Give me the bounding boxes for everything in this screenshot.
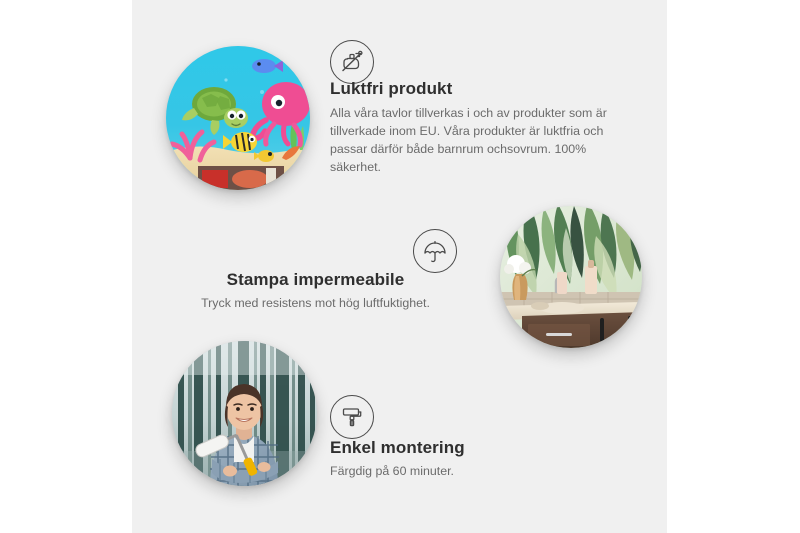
feature-text-easy-assembly: Enkel montering Färgdig på 60 minuter.: [330, 437, 620, 481]
feature-body-easy-assembly: Färgdig på 60 minuter.: [330, 463, 620, 481]
bathroom-vanity-photo: [500, 206, 642, 348]
feature-title-easy-assembly: Enkel montering: [330, 437, 620, 458]
product-feature-infographic: Luktfri produkt Alla våra tavlor tillver…: [0, 0, 800, 533]
feature-body-odour-free: Alla våra tavlor tillverkas i och av pro…: [330, 105, 626, 177]
feature-title-odour-free: Luktfri produkt: [330, 78, 626, 99]
feature-text-waterproof-print: Stampa impermeabile Tryck med resistens …: [168, 269, 463, 313]
woman-with-paint-roller-photo: [172, 341, 317, 486]
feature-title-waterproof-print: Stampa impermeabile: [168, 269, 463, 290]
feature-body-waterproof-print: Tryck med resistens mot hög luftfuktighe…: [168, 295, 463, 313]
paint-roller-icon: [330, 395, 374, 439]
feature-text-odour-free: Luktfri produkt Alla våra tavlor tillver…: [330, 78, 626, 177]
umbrella-icon: [413, 229, 457, 273]
underwater-cartoon-scene-photo: [166, 46, 310, 190]
